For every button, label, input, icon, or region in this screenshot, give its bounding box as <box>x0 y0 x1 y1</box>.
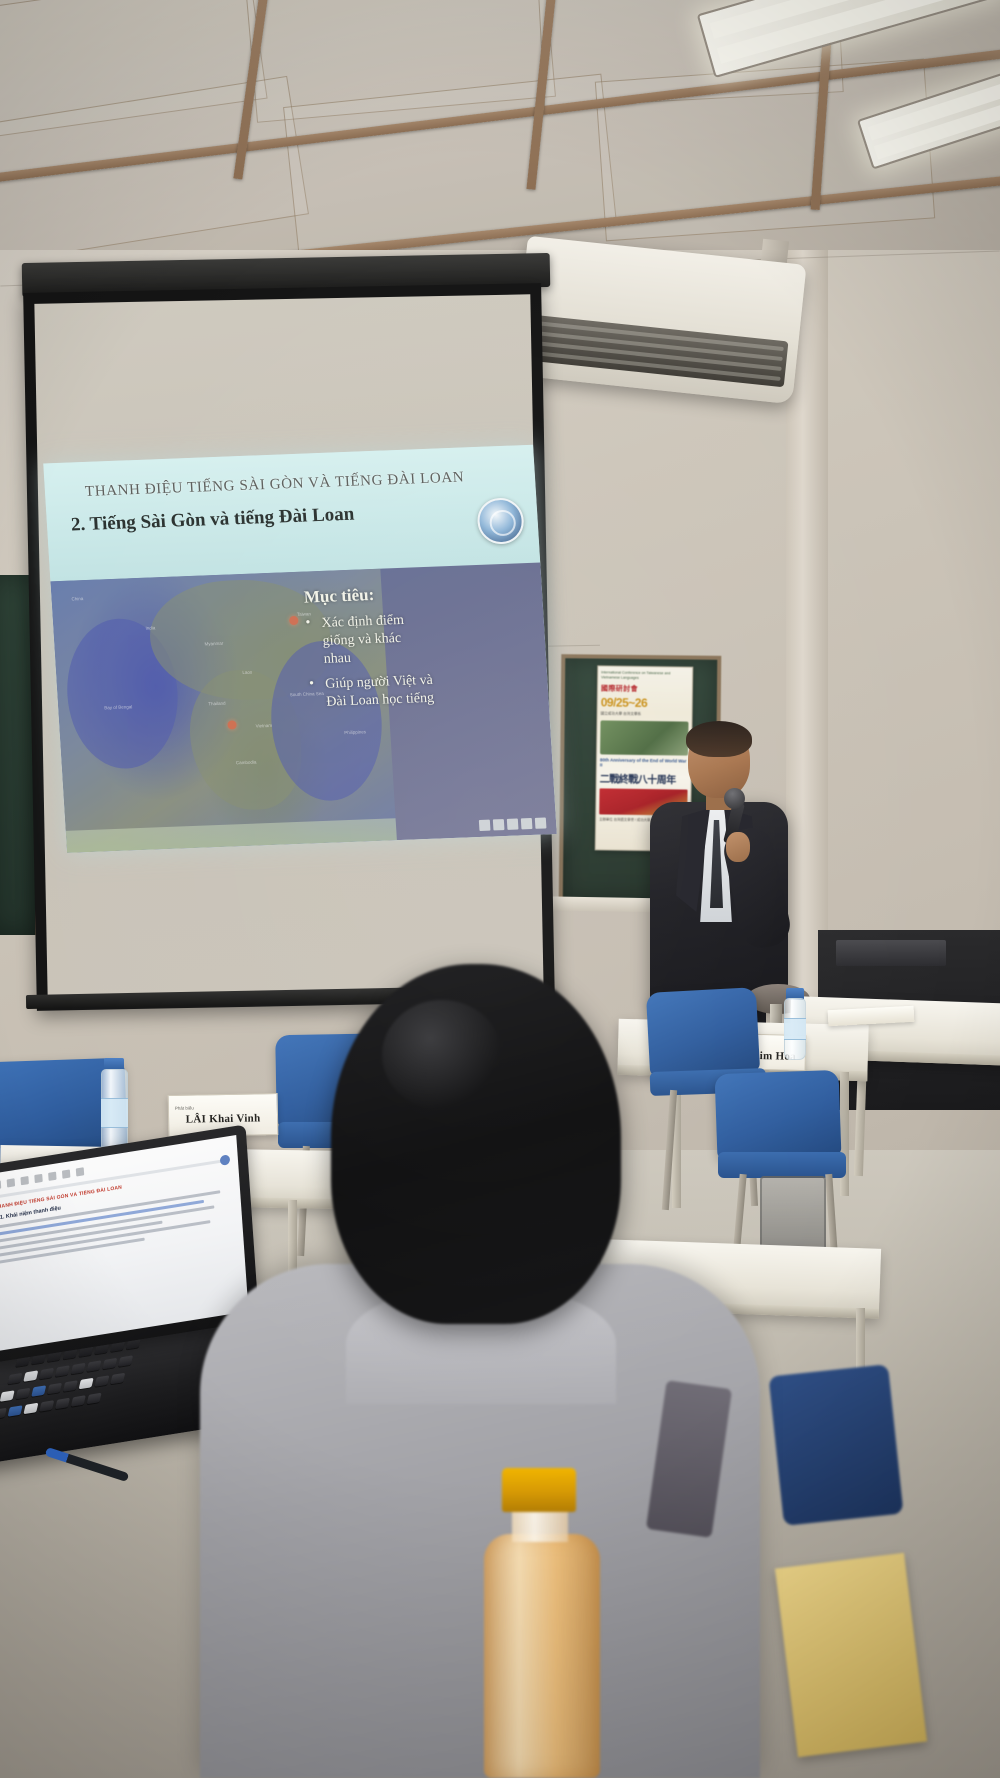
italic-icon[interactable] <box>62 1169 70 1178</box>
audience-hair-highlight <box>382 1000 502 1110</box>
undo-icon[interactable] <box>0 1180 1 1189</box>
audience-person-foreground <box>186 964 766 1778</box>
map-label: India <box>145 625 155 630</box>
key[interactable] <box>55 1365 70 1376</box>
objective-item: Xác định điểm giống và khác nhau <box>305 611 433 669</box>
key[interactable] <box>0 1408 7 1419</box>
objective-item: Giúp người Việt và Đài Loan học tiếng <box>309 671 436 712</box>
key[interactable] <box>87 1393 102 1404</box>
key[interactable] <box>118 1355 133 1366</box>
cabinet-panel <box>836 940 946 966</box>
key[interactable] <box>23 1403 38 1414</box>
map-label: Thailand <box>208 701 226 707</box>
slide-icon-strip <box>479 817 547 831</box>
map-label: Myanmar <box>204 641 223 647</box>
map-label: Philippines <box>344 729 366 735</box>
map-label: Laos <box>242 670 252 675</box>
slide-body: China India Myanmar Bay of Bengal Laos T… <box>50 563 556 853</box>
slide-icon <box>493 819 505 830</box>
screen-surface: THANH ĐIỆU TIẾNG SÀI GÒN VÀ TIẾNG ĐÀI LO… <box>34 294 543 999</box>
key[interactable] <box>23 1370 38 1381</box>
map-label: Cambodia <box>236 760 257 766</box>
align-icon[interactable] <box>76 1167 84 1176</box>
university-seal-icon <box>476 497 525 545</box>
print-icon[interactable] <box>20 1176 28 1185</box>
key[interactable] <box>15 1388 30 1399</box>
key[interactable] <box>63 1380 78 1391</box>
key[interactable] <box>47 1383 62 1394</box>
bottle-body <box>484 1534 600 1778</box>
key[interactable] <box>102 1358 117 1369</box>
map-label: Vietnam <box>256 723 273 729</box>
backpack <box>768 1364 903 1526</box>
slide-icon <box>507 819 519 830</box>
map-bottom-band <box>66 818 397 853</box>
bold-icon[interactable] <box>48 1172 56 1181</box>
classroom-scene: International Conference on Taiwanese an… <box>0 0 1000 1778</box>
projection-screen: THANH ĐIỆU TIẾNG SÀI GÒN VÀ TIẾNG ĐÀI LO… <box>23 283 555 1011</box>
key[interactable] <box>55 1398 70 1409</box>
slide-subtitle: 2. Tiếng Sài Gòn và tiếng Đài Loan <box>70 498 511 537</box>
speaker-hair <box>686 721 752 757</box>
key[interactable] <box>31 1385 46 1396</box>
poster-top-text: International Conference on Taiwanese an… <box>601 670 689 681</box>
foreground-drink-bottle <box>478 1468 610 1778</box>
slide-title: THANH ĐIỆU TIẾNG SÀI GÒN VÀ TIẾNG ĐÀI LO… <box>85 467 516 500</box>
poster-date: 09/25~26 <box>601 695 689 710</box>
zoom-icon[interactable] <box>34 1174 42 1183</box>
key[interactable] <box>0 1390 15 1401</box>
yellow-folder <box>775 1553 927 1757</box>
key[interactable] <box>7 1373 22 1384</box>
bottle-label <box>101 1098 128 1128</box>
key[interactable] <box>39 1400 54 1411</box>
bottle-cap <box>502 1468 576 1512</box>
poster-red-heading: 國際研討會 <box>601 683 689 694</box>
key[interactable] <box>94 1375 109 1386</box>
slide-objectives: Mục tiêu: Xác định điểm giống và khác nh… <box>303 579 531 719</box>
presentation-slide: THANH ĐIỆU TIẾNG SÀI GÒN VÀ TIẾNG ĐÀI LO… <box>43 445 557 853</box>
air-conditioner <box>513 236 806 405</box>
key[interactable] <box>71 1395 86 1406</box>
slide-icon <box>521 818 533 829</box>
slide-header: THANH ĐIỆU TIẾNG SÀI GÒN VÀ TIẾNG ĐÀI LO… <box>43 445 540 582</box>
key[interactable] <box>110 1373 125 1384</box>
slide-icon <box>479 820 491 831</box>
key[interactable] <box>8 1405 23 1416</box>
map-label: China <box>71 596 83 601</box>
map-label: Bay of Bengal <box>104 704 132 710</box>
key[interactable] <box>86 1360 101 1371</box>
poster-sub-text: 國立成功大學 台灣文學系 <box>601 711 689 717</box>
bottle-label <box>784 1018 806 1040</box>
key[interactable] <box>79 1378 94 1389</box>
bottle-neck <box>512 1508 568 1542</box>
key[interactable] <box>71 1363 86 1374</box>
objectives-list: Xác định điểm giống và khác nhau Giúp ng… <box>305 607 531 712</box>
key[interactable] <box>39 1368 54 1379</box>
redo-icon[interactable] <box>7 1178 15 1187</box>
slide-icon <box>535 817 547 828</box>
speaker-hand <box>726 832 750 862</box>
